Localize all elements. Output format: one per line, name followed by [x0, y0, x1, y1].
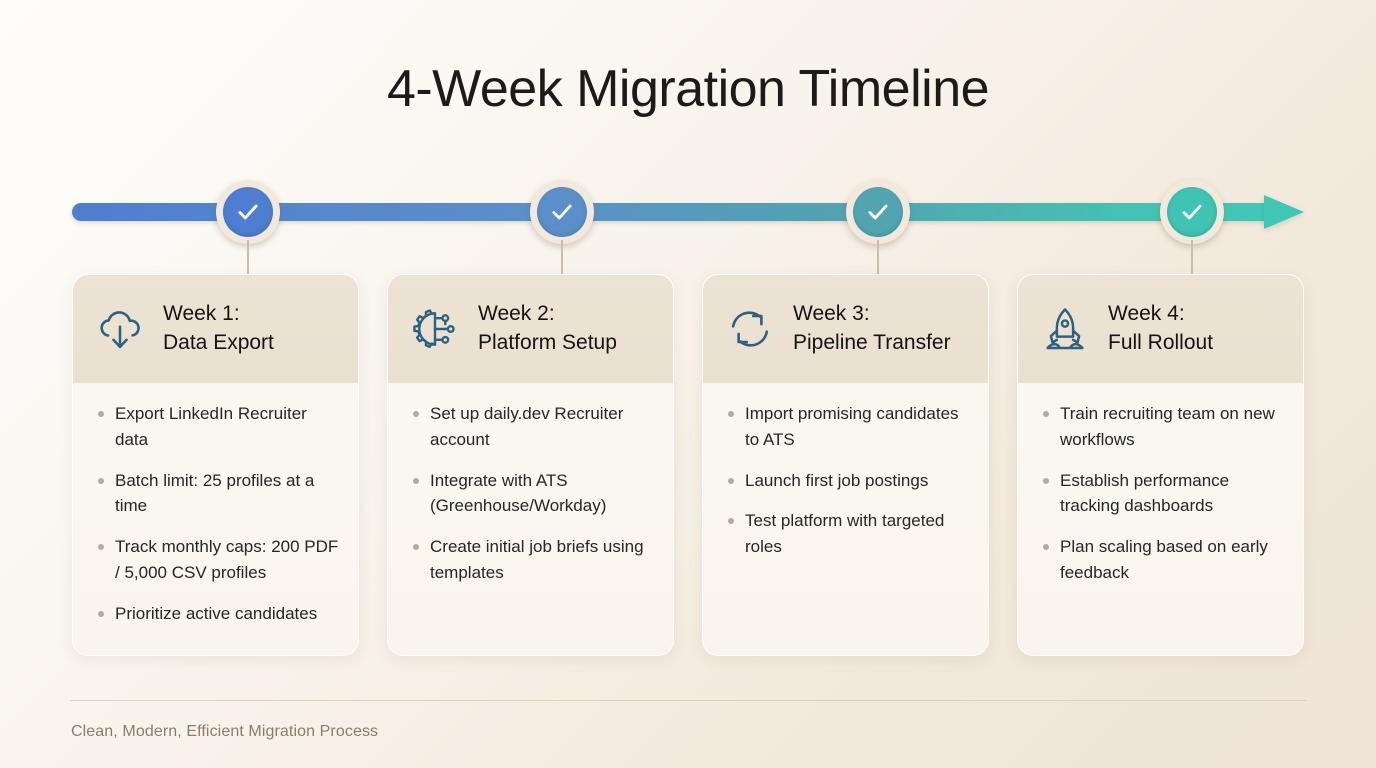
list-item: Launch first job postings: [717, 468, 972, 494]
check-icon: [549, 199, 575, 225]
card-title-line: Platform Setup: [478, 329, 617, 358]
list-item: Batch limit: 25 profiles at a time: [87, 468, 342, 520]
list-item: Create initial job briefs using template…: [402, 534, 657, 586]
gear-circuit-icon: [408, 302, 462, 356]
check-icon: [235, 199, 261, 225]
list-item: Import promising candidates to ATS: [717, 401, 972, 453]
card-title-line: Pipeline Transfer: [793, 329, 951, 358]
arrow-right-icon: [1264, 195, 1304, 229]
footer-divider: [70, 700, 1306, 701]
bullet-text: Test platform with targeted roles: [745, 511, 944, 556]
bullet-text: Train recruiting team on new workflows: [1060, 404, 1275, 449]
connector-stem-1: [247, 240, 249, 274]
list-item: Export LinkedIn Recruiter data: [87, 401, 342, 453]
bullet-text: Track monthly caps: 200 PDF / 5,000 CSV …: [115, 537, 338, 582]
list-item: Train recruiting team on new workflows: [1032, 401, 1287, 453]
list-item: Test platform with targeted roles: [717, 508, 972, 560]
bullet-text: Import promising candidates to ATS: [745, 404, 959, 449]
bullet-text: Batch limit: 25 profiles at a time: [115, 471, 314, 516]
card-title-week-2: Week 2:Platform Setup: [478, 300, 617, 358]
card-week-2: Week 2:Platform SetupSet up daily.dev Re…: [387, 274, 674, 656]
card-title-line: Week 4:: [1108, 300, 1213, 329]
week-3-marker[interactable]: [846, 180, 910, 244]
connector-stem-3: [877, 240, 879, 274]
bullet-list-week-4: Train recruiting team on new workflowsEs…: [1032, 401, 1287, 586]
list-item: Set up daily.dev Recruiter account: [402, 401, 657, 453]
card-title-week-4: Week 4:Full Rollout: [1108, 300, 1213, 358]
check-icon: [865, 199, 891, 225]
check-icon: [1179, 199, 1205, 225]
bullet-text: Plan scaling based on early feedback: [1060, 537, 1268, 582]
list-item: Integrate with ATS (Greenhouse/Workday): [402, 468, 657, 520]
bullet-text: Create initial job briefs using template…: [430, 537, 644, 582]
card-header-week-3: Week 3:Pipeline Transfer: [703, 275, 988, 383]
footer-caption: Clean, Modern, Efficient Migration Proce…: [71, 723, 378, 741]
page-title: 4-Week Migration Timeline: [0, 60, 1376, 120]
card-week-1: Week 1:Data ExportExport LinkedIn Recrui…: [72, 274, 359, 656]
card-title-line: Full Rollout: [1108, 329, 1213, 358]
card-title-week-1: Week 1:Data Export: [163, 300, 274, 358]
card-title-line: Week 2:: [478, 300, 617, 329]
cloud-download-icon: [93, 302, 147, 356]
rocket-icon: [1038, 302, 1092, 356]
list-item: Plan scaling based on early feedback: [1032, 534, 1287, 586]
card-title-line: Week 3:: [793, 300, 951, 329]
card-body-week-3: Import promising candidates to ATSLaunch…: [703, 383, 988, 560]
card-header-week-2: Week 2:Platform Setup: [388, 275, 673, 383]
timeline-track: [72, 196, 1304, 228]
week-1-marker-disc: [223, 187, 273, 237]
card-body-week-4: Train recruiting team on new workflowsEs…: [1018, 383, 1303, 586]
connector-stem-4: [1191, 240, 1193, 274]
sync-arrows-icon: [723, 302, 777, 356]
bullet-text: Set up daily.dev Recruiter account: [430, 404, 623, 449]
card-body-week-1: Export LinkedIn Recruiter dataBatch limi…: [73, 383, 358, 627]
list-item: Establish performance tracking dashboard…: [1032, 468, 1287, 520]
card-week-4: Week 4:Full RolloutTrain recruiting team…: [1017, 274, 1304, 656]
bullet-list-week-3: Import promising candidates to ATSLaunch…: [717, 401, 972, 560]
week-2-marker-disc: [537, 187, 587, 237]
bullet-text: Launch first job postings: [745, 471, 928, 490]
list-item: Track monthly caps: 200 PDF / 5,000 CSV …: [87, 534, 342, 586]
week-2-marker[interactable]: [530, 180, 594, 244]
card-header-week-1: Week 1:Data Export: [73, 275, 358, 383]
card-title-week-3: Week 3:Pipeline Transfer: [793, 300, 951, 358]
card-week-3: Week 3:Pipeline TransferImport promising…: [702, 274, 989, 656]
week-1-marker[interactable]: [216, 180, 280, 244]
card-body-week-2: Set up daily.dev Recruiter accountIntegr…: [388, 383, 673, 586]
bullet-text: Prioritize active candidates: [115, 604, 317, 623]
bullet-text: Export LinkedIn Recruiter data: [115, 404, 307, 449]
week-4-marker[interactable]: [1160, 180, 1224, 244]
connector-stem-2: [561, 240, 563, 274]
infographic-stage: 4-Week Migration Timeline Week 1:Data Ex…: [0, 0, 1376, 768]
card-title-line: Week 1:: [163, 300, 274, 329]
card-header-week-4: Week 4:Full Rollout: [1018, 275, 1303, 383]
bullet-list-week-1: Export LinkedIn Recruiter dataBatch limi…: [87, 401, 342, 627]
week-3-marker-disc: [853, 187, 903, 237]
bullet-list-week-2: Set up daily.dev Recruiter accountIntegr…: [402, 401, 657, 586]
bullet-text: Integrate with ATS (Greenhouse/Workday): [430, 471, 606, 516]
week-4-marker-disc: [1167, 187, 1217, 237]
list-item: Prioritize active candidates: [87, 601, 342, 627]
bullet-text: Establish performance tracking dashboard…: [1060, 471, 1229, 516]
card-title-line: Data Export: [163, 329, 274, 358]
